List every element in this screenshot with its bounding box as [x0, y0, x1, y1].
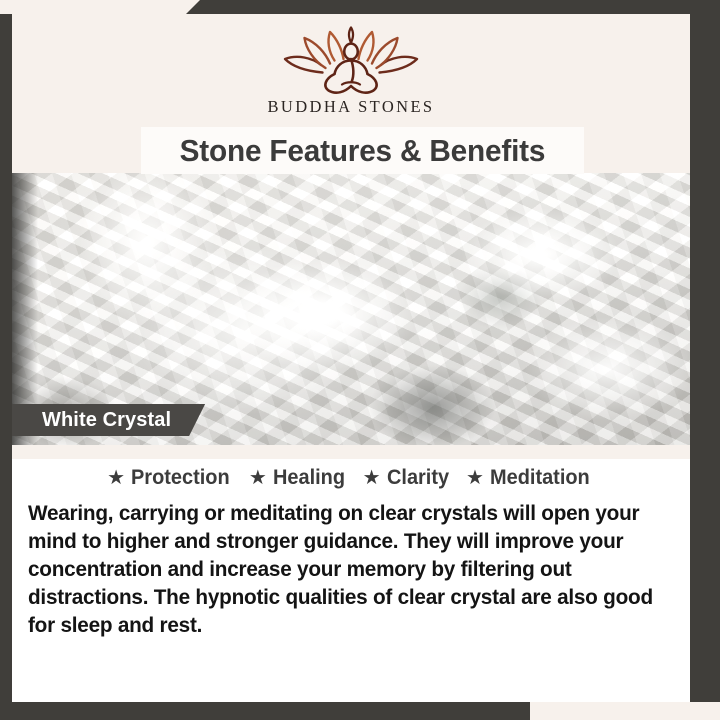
benefit-label: Protection	[131, 466, 230, 490]
page-title: Stone Features & Benefits	[180, 133, 546, 169]
benefit-item-healing: ★ Healing	[249, 466, 349, 490]
benefit-label: Clarity	[387, 466, 449, 490]
frame-left-edge	[0, 0, 12, 720]
stone-name-badge: White Crystal	[12, 404, 205, 436]
content-panel: ★ Protection ★ Healing ★ Clarity ★ Medit…	[12, 459, 690, 702]
benefit-item-protection: ★ Protection	[107, 466, 235, 490]
page-title-banner: Stone Features & Benefits	[141, 127, 584, 174]
star-icon: ★	[466, 468, 484, 488]
frame-right-edge	[690, 0, 720, 720]
benefit-label: Healing	[273, 466, 345, 490]
frame-top-notch	[0, 0, 210, 14]
star-icon: ★	[249, 468, 267, 488]
stone-name-label: White Crystal	[42, 409, 171, 432]
star-icon: ★	[107, 468, 125, 488]
page-surface: BUDDHA STONES White Crystal ★ Protection…	[12, 14, 690, 702]
separator-strip	[12, 445, 690, 459]
frame-bottom-notch	[530, 702, 720, 720]
star-icon: ★	[363, 468, 381, 488]
stone-info-card: BUDDHA STONES White Crystal ★ Protection…	[0, 0, 720, 720]
benefits-list: ★ Protection ★ Healing ★ Clarity ★ Medit…	[12, 466, 690, 490]
benefit-item-meditation: ★ Meditation	[466, 466, 595, 490]
brand-header: BUDDHA STONES	[12, 14, 690, 130]
lotus-meditation-figure-icon	[275, 26, 427, 98]
stone-description: Wearing, carrying or meditating on clear…	[28, 500, 665, 640]
brand-name: BUDDHA STONES	[267, 99, 434, 116]
brand-logo: BUDDHA STONES	[12, 26, 690, 116]
benefit-item-clarity: ★ Clarity	[363, 466, 452, 490]
benefit-label: Meditation	[490, 466, 590, 490]
